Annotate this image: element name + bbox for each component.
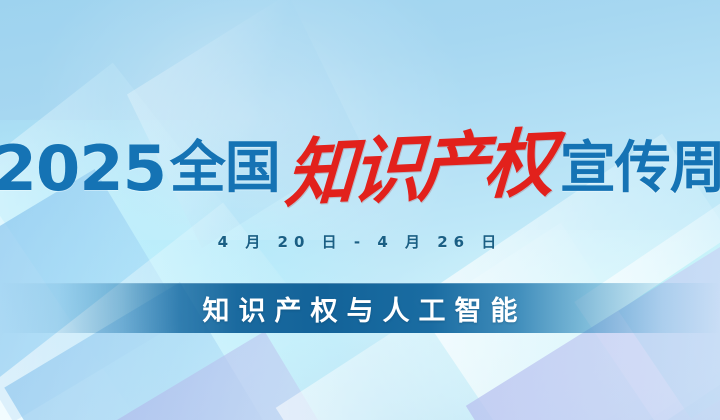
poster-canvas: 2025 全国 知识产权 宣传周 4 月 20 日 - 4 月 26 日 知识产… <box>0 0 720 420</box>
headline-prefix: 全国 <box>170 141 280 197</box>
theme-banner: 知识产权与人工智能 <box>0 283 720 333</box>
theme-banner-text: 知识产权与人工智能 <box>194 289 527 328</box>
headline-highlight-calligraphy: 知识产权 <box>283 126 553 212</box>
headline-suffix: 宣传周 <box>560 141 720 197</box>
headline: 2025 全国 知识产权 宣传周 <box>0 128 720 210</box>
date-range-text: 4 月 20 日 - 4 月 26 日 <box>0 231 720 252</box>
headline-year: 2025 <box>0 138 166 200</box>
